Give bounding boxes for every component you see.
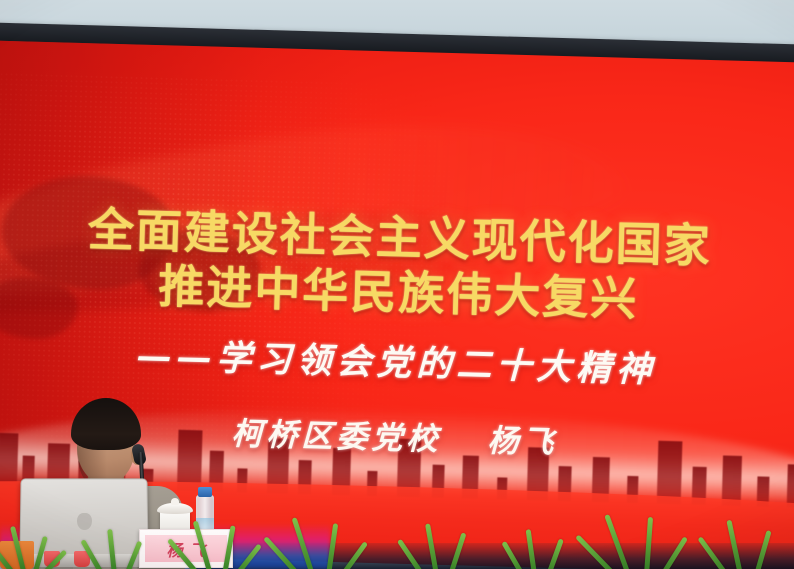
potted-plant <box>520 523 590 569</box>
laptop-logo-icon <box>77 513 92 530</box>
foreground-layer: 杨飞 <box>0 0 794 569</box>
potted-plant <box>296 507 382 569</box>
potted-plant <box>420 517 494 569</box>
conference-hall-scene: 全面建设社会主义现代化国家 推进中华民族伟大复兴 ——学习领会党的二十大精神 柯… <box>0 0 794 569</box>
potted-plant <box>724 513 794 569</box>
water-bottle-cap <box>198 487 212 497</box>
tea-mug-knob <box>171 498 179 505</box>
potted-plant <box>612 501 704 569</box>
potted-plant <box>12 515 72 569</box>
potted-plant <box>100 519 170 569</box>
presenter-hair <box>71 398 141 450</box>
